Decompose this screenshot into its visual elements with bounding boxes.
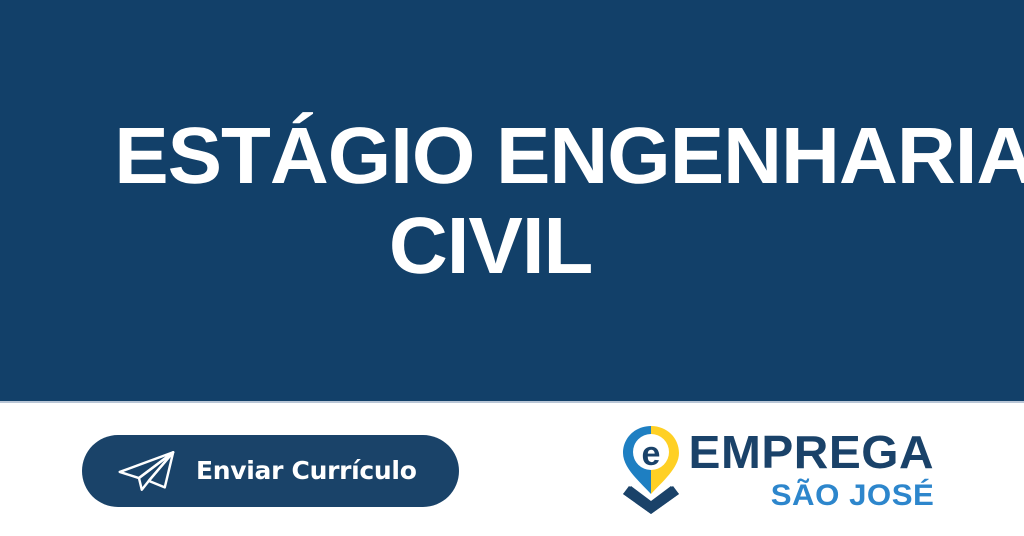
send-resume-button[interactable]: Enviar Currículo	[82, 435, 459, 507]
paper-plane-icon	[116, 449, 176, 493]
send-resume-button-label: Enviar Currículo	[196, 458, 417, 483]
brand-name: EMPREGA	[688, 429, 934, 475]
brand-subtitle: SÃO JOSÉ	[770, 481, 934, 511]
map-pin-logo-icon: e	[620, 424, 682, 516]
page-title-line-2: CIVIL	[71, 201, 909, 291]
brand-wordmark: EMPREGA SÃO JOSÉ	[698, 429, 934, 511]
page-title: ESTÁGIO ENGENHARIA CIVIL	[114, 111, 910, 290]
svg-text:e: e	[641, 435, 660, 473]
footer-bar: Enviar Currículo e	[0, 403, 1024, 536]
job-posting-banner: ESTÁGIO ENGENHARIA CIVIL Enviar Currícul…	[0, 0, 1024, 536]
brand-logo[interactable]: e EMPREGA SÃO JOSÉ	[620, 424, 934, 516]
page-title-line-1: ESTÁGIO ENGENHARIA	[114, 111, 910, 201]
hero-section: ESTÁGIO ENGENHARIA CIVIL	[0, 0, 1024, 401]
